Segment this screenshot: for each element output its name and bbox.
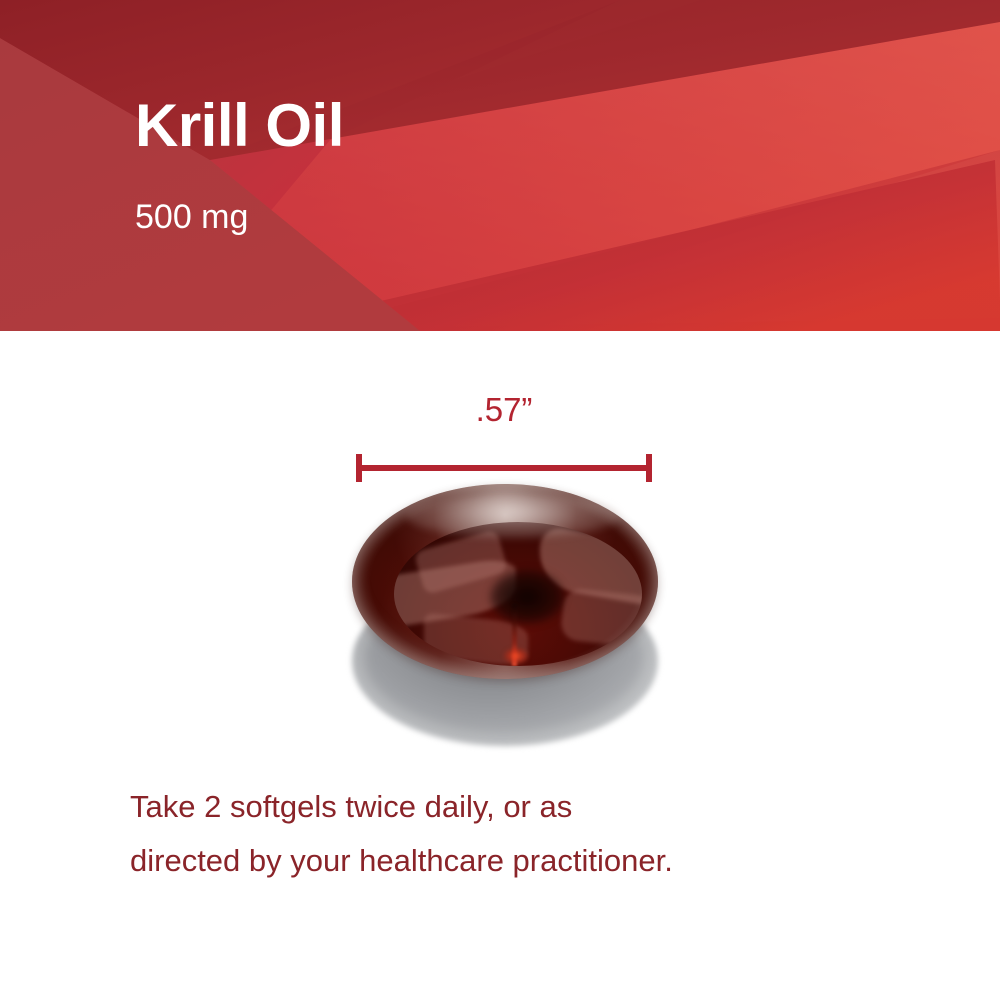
measurement-rule [356,454,652,482]
product-header-banner: Krill Oil 500 mg [0,0,1000,331]
directions-line-1: Take 2 softgels twice daily, or as [130,780,910,834]
size-measurement: .57” [356,393,652,482]
measurement-line [356,465,652,471]
product-strength-label: 500 mg [135,156,344,234]
product-info-panel: Krill Oil 500 mg .57” [0,0,1000,1000]
directions-text: Take 2 softgels twice daily, or as direc… [130,780,910,888]
directions-line-2: directed by your healthcare practitioner… [130,834,910,888]
measurement-end-cap-right [646,454,652,482]
measurement-end-cap-left [356,454,362,482]
header-text-block: Krill Oil 500 mg [135,96,344,234]
softgel-product-image [340,478,670,763]
measurement-value-label: .57” [356,393,652,426]
page-title: Krill Oil [135,96,344,156]
softgel-shell-rim [352,484,658,679]
